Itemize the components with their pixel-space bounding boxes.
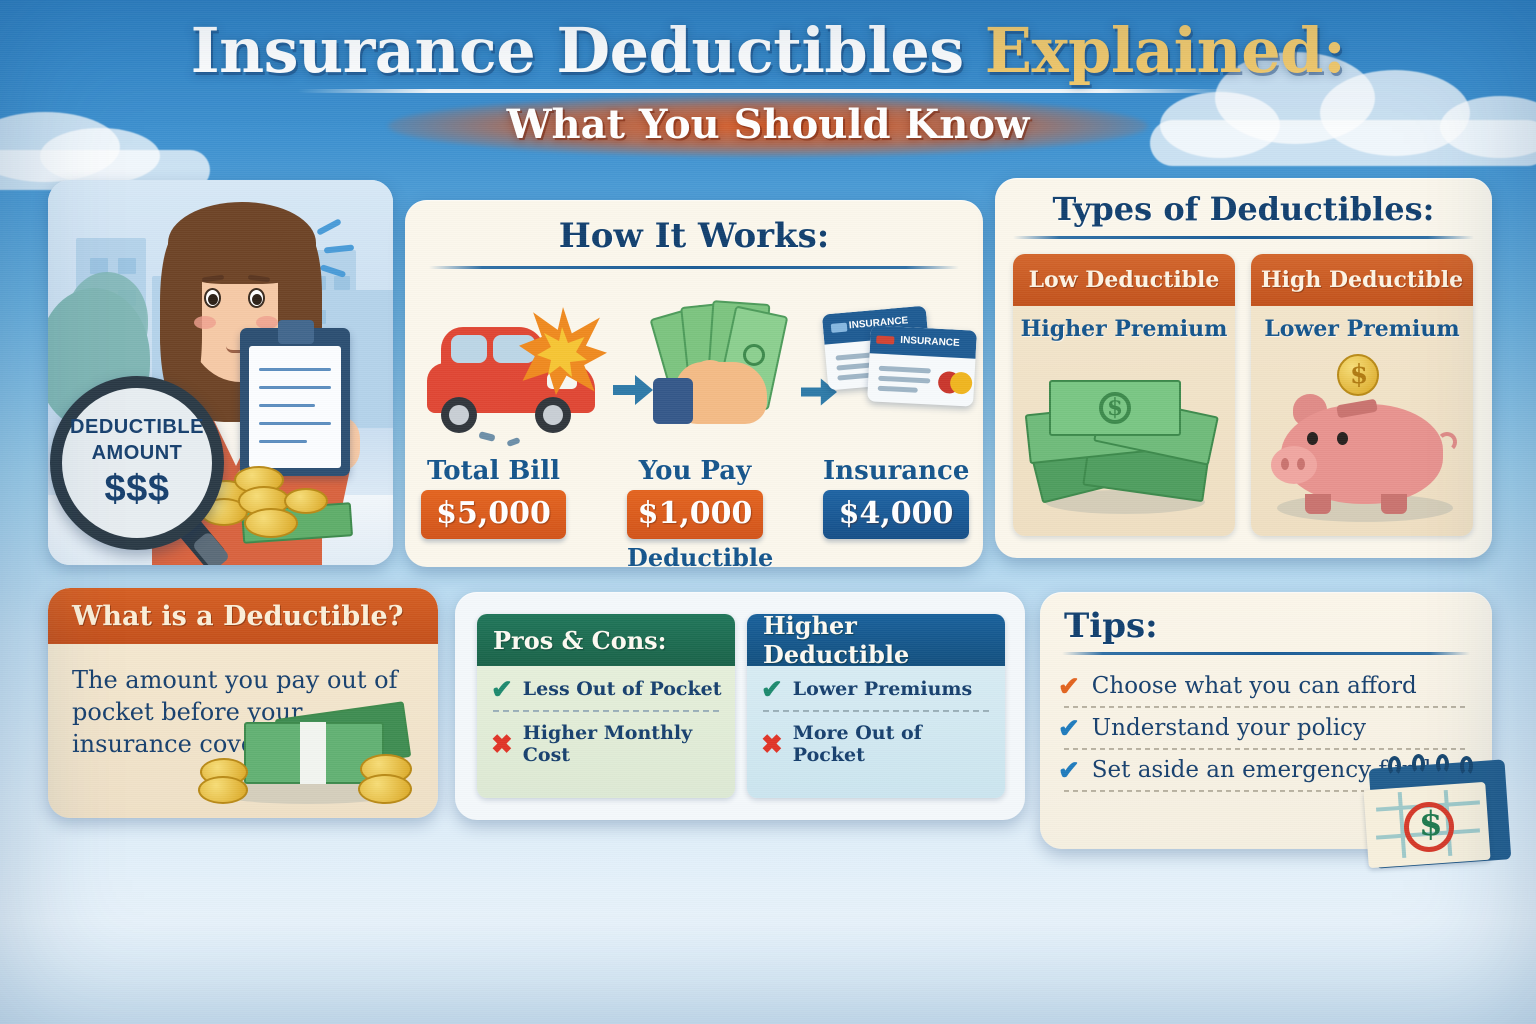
cross-icon: ✖ — [491, 731, 513, 757]
calendar-ring — [1460, 756, 1473, 776]
clipboard-clamp — [278, 320, 314, 344]
pros-cons-header-bar: Pros & Cons: — [477, 614, 735, 666]
calendar-ring — [1412, 754, 1425, 774]
piggy-nostril — [1281, 458, 1289, 470]
title-accent: Explained: — [985, 14, 1346, 87]
flow-label: Insurance — [823, 456, 969, 486]
car-hubcap — [543, 405, 563, 425]
pros-cons-item: ✖ Higher Monthly Cost — [477, 712, 735, 766]
flow-step-insurance: Insurance $4,000 — [823, 456, 969, 539]
insurance-card-front: INSURANCE — [867, 325, 977, 406]
magnifying-glass-icon: DEDUCTIBLE AMOUNT $$$ — [50, 376, 250, 565]
coin-icon — [198, 776, 248, 804]
clipboard-line — [259, 440, 307, 443]
cash-stack-icon: $ — [1013, 364, 1235, 534]
clipboard-line — [259, 368, 331, 371]
check-icon: ✔ — [1058, 757, 1080, 783]
piggy-bank-icon: $ — [1251, 354, 1473, 534]
pupil-shape — [208, 294, 218, 305]
car-window — [451, 335, 487, 363]
poster-header: Insurance Deductibles Explained: What Yo… — [0, 18, 1536, 160]
higher-deductible-item-text: More Out of Pocket — [793, 722, 993, 766]
card-stripe — [876, 336, 894, 345]
magnifier-text-line1: DEDUCTIBLE — [62, 416, 212, 439]
tips-divider — [1062, 652, 1470, 655]
flow-amount: $4,000 — [823, 490, 969, 539]
higher-deductible-item: ✔ Lower Premiums — [747, 666, 1005, 702]
cross-icon: ✖ — [761, 731, 783, 757]
banknote-dollar: $ — [1107, 394, 1123, 421]
higher-deductible-item: ✖ More Out of Pocket — [747, 712, 1005, 766]
check-icon: ✔ — [1058, 715, 1080, 741]
flow-amount: $5,000 — [421, 490, 566, 539]
flow-note: Deductible — [627, 543, 763, 572]
tip-divider — [1064, 706, 1468, 708]
title-main: Insurance Deductibles — [191, 14, 964, 87]
type-column-low-deductible: Low Deductible Higher Premium $ — [1013, 254, 1235, 536]
clipboard-line — [259, 422, 331, 425]
magnifier-lens: DEDUCTIBLE AMOUNT $$$ — [50, 376, 224, 550]
clipboard-paper — [249, 346, 341, 468]
flow-amount: $1,000 — [627, 490, 763, 539]
page-title: Insurance Deductibles Explained: — [0, 18, 1536, 83]
arrow-right-icon — [613, 375, 653, 405]
pros-cons-item: ✔ Less Out of Pocket — [477, 666, 735, 702]
piggy-nostril — [1297, 458, 1305, 470]
calendar-dollar-sign: $ — [1419, 804, 1443, 844]
type-header-text: Low Deductible — [1029, 267, 1220, 293]
piggy-eye — [1337, 432, 1348, 445]
type-header-text: High Deductible — [1261, 267, 1463, 293]
subtitle-band: What You Should Know — [388, 95, 1148, 160]
tip-item: ✔ Understand your policy — [1040, 715, 1492, 741]
piggy-leg — [1381, 494, 1407, 514]
how-it-works-panel: How It Works: — [405, 200, 983, 567]
tips-title: Tips: — [1040, 592, 1492, 646]
pros-cons-item-text: Higher Monthly Cost — [523, 722, 723, 766]
thumb-shape — [693, 360, 727, 386]
card-logo-yellow — [950, 372, 973, 395]
pros-cons-column: Pros & Cons: ✔ Less Out of Pocket ✖ High… — [477, 614, 735, 798]
flow-label: You Pay — [627, 456, 763, 486]
insurance-cards-illustration: INSURANCE INSURANCE — [825, 308, 975, 428]
higher-deductible-item-text: Lower Premiums — [793, 678, 972, 700]
page-subtitle: What You Should Know — [388, 101, 1148, 148]
coin-icon — [244, 508, 298, 538]
shirt-cuff — [653, 378, 693, 424]
coin-icon — [358, 774, 412, 804]
check-icon: ✔ — [1058, 673, 1080, 699]
calendar-ring — [1436, 754, 1449, 774]
check-icon: ✔ — [761, 676, 783, 702]
types-of-deductibles-panel: Types of Deductibles: Low Deductible Hig… — [995, 178, 1492, 558]
flow-step-total-bill: Total Bill $5,000 — [421, 456, 566, 539]
type-subtext: Higher Premium — [1013, 316, 1235, 342]
higher-deductible-header-bar: Higher Deductible — [747, 614, 1005, 666]
insurance-card-line — [878, 386, 918, 393]
what-is-header-bar: What is a Deductible? — [48, 588, 438, 644]
types-title: Types of Deductibles: — [995, 178, 1492, 228]
flow-arrow-icon — [613, 375, 653, 410]
clipboard-icon — [240, 328, 350, 476]
banknote-seal — [743, 344, 765, 366]
piggy-tail — [1437, 432, 1457, 452]
pros-cons-header-text: Pros & Cons: — [493, 626, 667, 655]
type-header-bar: Low Deductible — [1013, 254, 1235, 306]
how-it-works-divider — [429, 266, 959, 269]
tip-item-text: Understand your policy — [1092, 715, 1366, 741]
hand-with-money-illustration — [653, 300, 798, 445]
flow-step-you-pay: You Pay $1,000 Deductible — [627, 456, 763, 572]
piggy-leg — [1305, 494, 1331, 514]
higher-deductible-column: Higher Deductible ✔ Lower Premiums ✖ Mor… — [747, 614, 1005, 798]
car-crash-illustration — [423, 305, 613, 445]
types-divider — [1013, 236, 1474, 239]
clipboard-line — [259, 404, 315, 407]
infographic-poster: Insurance Deductibles Explained: What Yo… — [0, 0, 1536, 1024]
coin-dollar: $ — [1350, 360, 1368, 390]
insurance-card-line — [879, 366, 931, 374]
higher-deductible-header-text: Higher Deductible — [763, 614, 1005, 669]
debris-shape — [506, 437, 520, 447]
flow-label: Total Bill — [421, 456, 566, 486]
what-is-deductible-panel: What is a Deductible? The amount you pay… — [48, 588, 438, 818]
check-icon: ✔ — [491, 676, 513, 702]
clipboard-line — [259, 386, 331, 389]
title-underline — [298, 89, 1238, 93]
banknote-band — [300, 722, 326, 784]
pros-and-cons-panel: Pros & Cons: ✔ Less Out of Pocket ✖ High… — [455, 592, 1025, 820]
insurance-card-line — [878, 376, 930, 384]
type-subtext: Lower Premium — [1251, 316, 1473, 342]
magnifier-text-line3: $$$ — [62, 468, 212, 511]
piggy-snout — [1271, 446, 1317, 484]
type-column-high-deductible: High Deductible Lower Premium $ — [1251, 254, 1473, 536]
tip-item-text: Choose what you can afford — [1092, 673, 1417, 699]
magnifier-text-line2: AMOUNT — [62, 442, 212, 465]
cheek-shape — [194, 316, 216, 329]
how-it-works-title: How It Works: — [405, 200, 983, 256]
tip-divider — [1064, 748, 1468, 750]
piggy-eye — [1307, 432, 1318, 445]
type-header-bar: High Deductible — [1251, 254, 1473, 306]
what-is-header-text: What is a Deductible? — [72, 601, 403, 632]
calendar-dollar-icon: $ — [1366, 752, 1516, 882]
calendar-ring — [1388, 756, 1401, 776]
car-hubcap — [449, 405, 469, 425]
pupil-shape — [252, 294, 262, 305]
card-chip — [831, 323, 848, 333]
tip-item: ✔ Choose what you can afford — [1040, 673, 1492, 699]
debris-shape — [478, 431, 495, 442]
coin-icon — [284, 488, 328, 514]
pros-cons-item-text: Less Out of Pocket — [523, 678, 722, 700]
hero-illustration-panel: DEDUCTIBLE AMOUNT $$$ — [48, 180, 393, 565]
tip-divider — [1064, 790, 1364, 792]
